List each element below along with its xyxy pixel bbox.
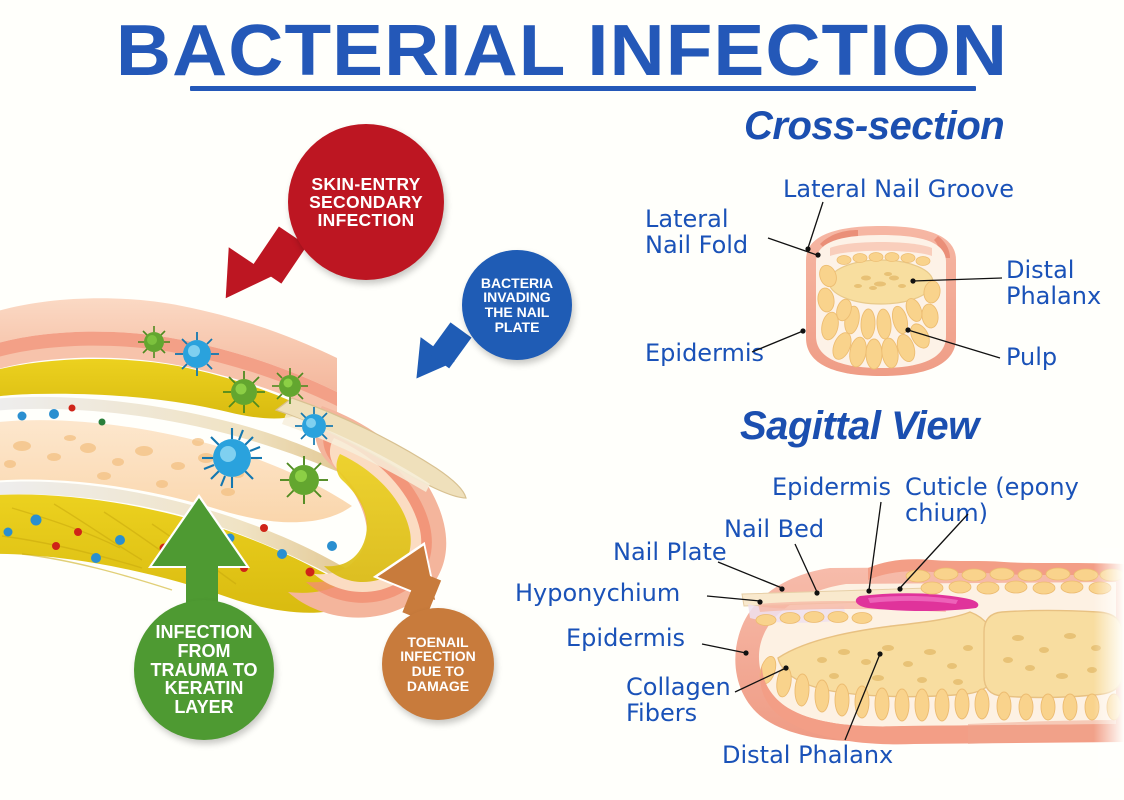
title-underline xyxy=(190,86,976,91)
page-title-wrap: BACTERIAL INFECTION xyxy=(0,14,1124,88)
label-distal-phalanx-cross: Distal Phalanx xyxy=(1006,257,1101,309)
label-epidermis-cross: Epidermis xyxy=(645,340,764,366)
callout-bacteria-nail[interactable]: BACTERIA INVADING THE NAIL PLATE xyxy=(462,250,572,360)
label-cuticle: Cuticle (epony chium) xyxy=(905,474,1110,526)
callout-trauma-keratin-text: INFECTION FROM TRAUMA TO KERATIN LAYER xyxy=(134,623,274,717)
page-title: BACTERIAL INFECTION xyxy=(0,14,1124,88)
label-pulp: Pulp xyxy=(1006,344,1057,370)
label-lateral-nail-fold: Lateral Nail Fold xyxy=(645,206,748,258)
label-lateral-nail-groove: Lateral Nail Groove xyxy=(783,176,1014,202)
label-nail-plate: Nail Plate xyxy=(613,539,727,565)
trauma-arrow-head xyxy=(152,498,246,566)
label-nail-bed: Nail Bed xyxy=(724,516,824,542)
label-epidermis-sag-lower: Epidermis xyxy=(566,625,685,651)
callout-skin-entry-text: SKIN-ENTRY SECONDARY INFECTION xyxy=(288,175,444,230)
cross-section-heading: Cross-section xyxy=(744,104,1004,149)
label-hyponychium: Hyponychium xyxy=(515,580,680,606)
cross-section-diagram xyxy=(778,218,984,386)
callout-toenail-damage[interactable]: TOENAIL INFECTION DUE TO DAMAGE xyxy=(382,608,494,720)
callout-bacteria-nail-text: BACTERIA INVADING THE NAIL PLATE xyxy=(462,276,572,334)
callout-skin-entry[interactable]: SKIN-ENTRY SECONDARY INFECTION xyxy=(288,124,444,280)
callout-trauma-keratin[interactable]: INFECTION FROM TRAUMA TO KERATIN LAYER xyxy=(134,600,274,740)
infected-toe-illustration xyxy=(0,296,552,626)
label-collagen-fibers: Collagen Fibers xyxy=(626,674,731,726)
label-epidermis-sag-top: Epidermis xyxy=(772,474,891,500)
sagittal-view-heading: Sagittal View xyxy=(740,404,979,449)
infographic-canvas: BACTERIAL INFECTION xyxy=(0,0,1124,800)
callout-toenail-damage-text: TOENAIL INFECTION DUE TO DAMAGE xyxy=(382,635,494,693)
label-distal-phalanx-sag: Distal Phalanx xyxy=(722,742,893,768)
